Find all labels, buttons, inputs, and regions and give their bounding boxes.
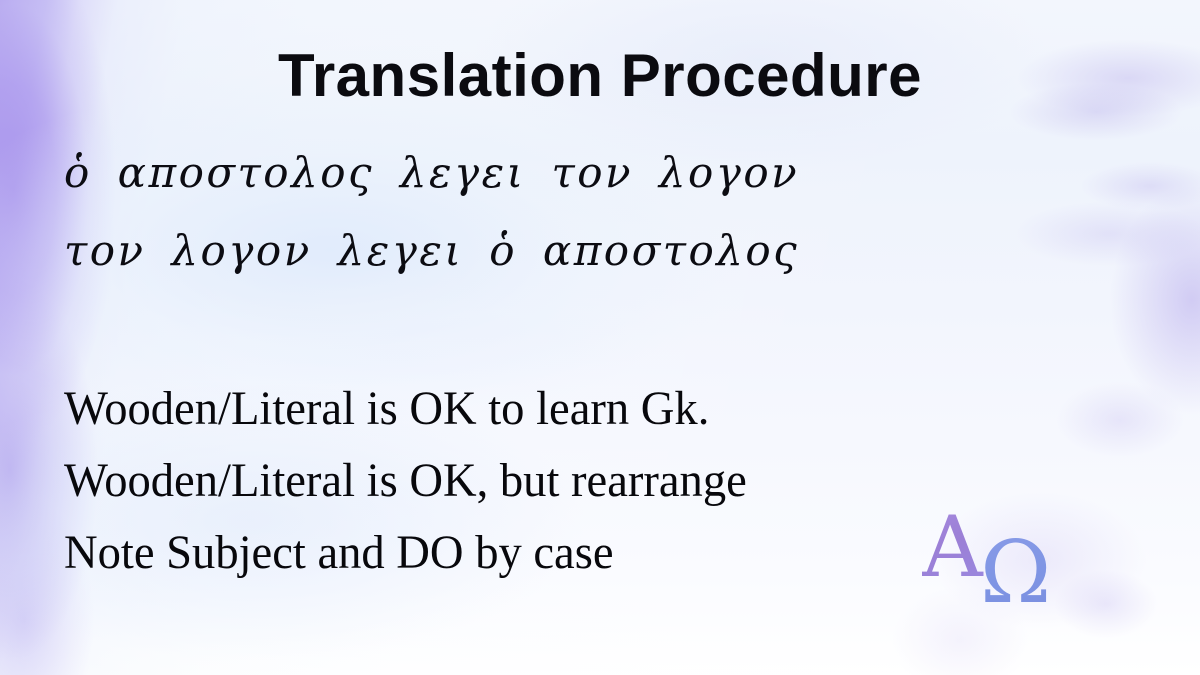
note-line-1: Wooden/Literal is OK to learn Gk. (64, 385, 747, 433)
note-line-2: Wooden/Literal is OK, but rearrange (64, 457, 747, 505)
omega-glyph: Ω (980, 523, 1051, 613)
note-line-3: Note Subject and DO by case (64, 529, 747, 577)
greek-example-block: ὁ αποστολος λεγει τον λογον τον λογον λε… (64, 152, 799, 308)
greek-sentence-ovs: τον λογον λεγει ὁ αποστολος (64, 230, 799, 272)
slide-content: Translation Procedure ὁ αποστολος λεγει … (0, 0, 1200, 675)
greek-sentence-svo: ὁ αποστολος λεγει τον λογον (64, 152, 799, 194)
alpha-omega-logo-icon: Ω Α (922, 498, 1082, 613)
slide-title: Translation Procedure (0, 44, 1200, 107)
presentation-slide: Translation Procedure ὁ αποστολος λεγει … (0, 0, 1200, 675)
translation-notes-block: Wooden/Literal is OK to learn Gk. Wooden… (64, 385, 768, 601)
alpha-glyph: Α (922, 498, 984, 596)
